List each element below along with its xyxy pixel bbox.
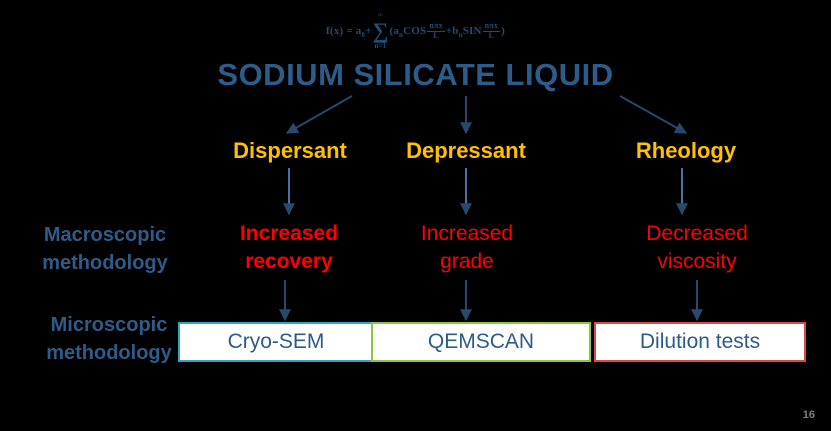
method-label-dilution-tests: Dilution tests bbox=[640, 330, 760, 354]
cosine-argument-denominator: L bbox=[427, 32, 444, 40]
summation-lower-limit: n=1 bbox=[375, 44, 387, 50]
sine-argument-denominator: L bbox=[483, 32, 500, 40]
sine-argument-fraction: nπxL bbox=[483, 22, 500, 40]
function-label-dispersant: Dispersant bbox=[195, 138, 385, 164]
outcome-recovery-line2: recovery bbox=[245, 250, 333, 273]
row-label-microscopic-line1: Microscopic bbox=[51, 314, 168, 336]
method-box-qemscan[interactable]: QEMSCAN bbox=[371, 322, 591, 362]
outcome-increased-recovery: Increased recovery bbox=[196, 220, 382, 275]
row-label-microscopic: Microscopic methodology bbox=[14, 311, 204, 368]
arrow-title-to-dispersant bbox=[287, 96, 352, 133]
outcome-viscosity-line2: viscosity bbox=[657, 250, 736, 273]
function-label-depressant: Depressant bbox=[371, 138, 561, 164]
row-label-microscopic-line2: methodology bbox=[46, 342, 172, 364]
sine-function: SIN bbox=[463, 25, 482, 37]
formula-lhs: f(x) = a bbox=[326, 25, 361, 37]
row-label-macroscopic-line1: Macroscopic bbox=[44, 224, 166, 246]
cosine-argument-fraction: nπxL bbox=[427, 22, 444, 40]
row-label-macroscopic-line2: methodology bbox=[42, 252, 168, 274]
fourier-formula: f(x) = a0+∞∑n=1(anCOSnπxL+bnSINnπxL) bbox=[0, 22, 831, 41]
arrow-title-to-rheology bbox=[620, 96, 686, 133]
outcome-viscosity-line1: Decreased bbox=[646, 222, 748, 245]
formula-plus: + bbox=[365, 25, 371, 37]
method-box-dilution-tests[interactable]: Dilution tests bbox=[594, 322, 806, 362]
outcome-grade-line2: grade bbox=[440, 250, 494, 273]
page-number: 16 bbox=[803, 409, 815, 421]
formula-close-paren: ) bbox=[501, 25, 505, 37]
function-label-rheology: Rheology bbox=[598, 138, 774, 164]
slide-canvas: f(x) = a0+∞∑n=1(anCOSnπxL+bnSINnπxL) SOD… bbox=[0, 0, 831, 431]
summation-symbol: ∞∑n=1 bbox=[373, 22, 389, 41]
outcome-increased-grade: Increased grade bbox=[377, 220, 557, 275]
method-box-cryo-sem[interactable]: Cryo-SEM bbox=[178, 322, 374, 362]
summation-upper-limit: ∞ bbox=[378, 13, 383, 19]
outcome-grade-line1: Increased bbox=[421, 222, 513, 245]
slide-title: SODIUM SILICATE LIQUID bbox=[0, 57, 831, 93]
sigma-glyph: ∑ bbox=[373, 18, 389, 43]
cosine-function: COS bbox=[403, 25, 426, 37]
method-label-qemscan: QEMSCAN bbox=[428, 330, 534, 354]
method-label-cryo-sem: Cryo-SEM bbox=[228, 330, 325, 354]
outcome-recovery-line1: Increased bbox=[240, 222, 338, 245]
outcome-decreased-viscosity: Decreased viscosity bbox=[604, 220, 790, 275]
row-label-macroscopic: Macroscopic methodology bbox=[10, 221, 200, 278]
